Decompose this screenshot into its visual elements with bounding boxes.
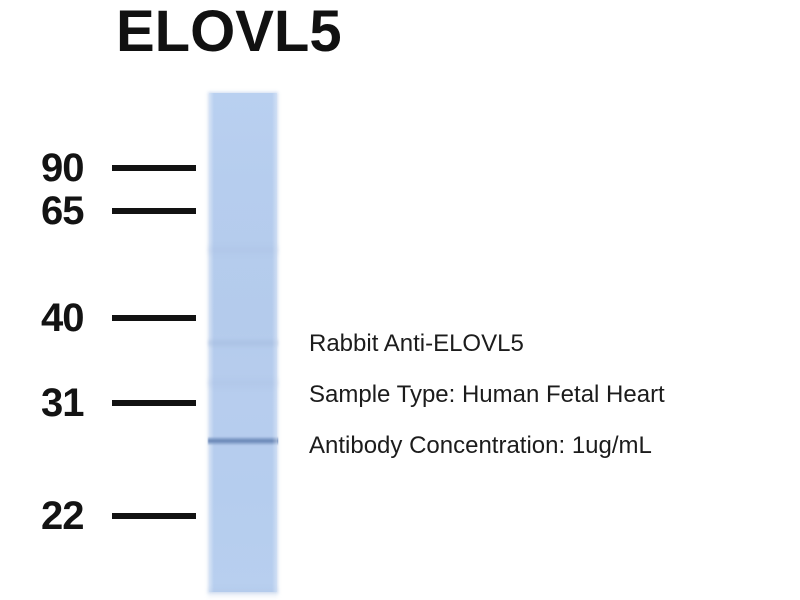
western-blot-figure: ELOVL5 90 65 40 31 22 R: [0, 0, 800, 600]
gel-lane: [209, 93, 277, 592]
marker-dash-22: [112, 513, 196, 519]
primary-band: [208, 437, 278, 446]
marker-dash-90: [112, 165, 196, 171]
molecular-weight-ladder: 90 65 40 31 22: [0, 0, 205, 600]
annotation-antibody: Rabbit Anti-ELOVL5: [309, 318, 779, 369]
lane-artifact-mid: [208, 377, 278, 389]
marker-label-31: 31: [41, 383, 84, 423]
annotation-block: Rabbit Anti-ELOVL5 Sample Type: Human Fe…: [309, 318, 779, 471]
marker-dash-31: [112, 400, 196, 406]
marker-label-40: 40: [41, 298, 84, 338]
marker-dash-65: [112, 208, 196, 214]
marker-label-90: 90: [41, 148, 84, 188]
annotation-sample-type: Sample Type: Human Fetal Heart: [309, 369, 779, 420]
marker-label-65: 65: [41, 191, 84, 231]
faint-band-lower: [208, 587, 278, 599]
lane-artifact-upper: [208, 244, 278, 256]
faint-band-upper: [208, 338, 278, 348]
marker-dash-40: [112, 315, 196, 321]
annotation-antibody-concentration: Antibody Concentration: 1ug/mL: [309, 420, 779, 471]
marker-label-22: 22: [41, 496, 84, 536]
